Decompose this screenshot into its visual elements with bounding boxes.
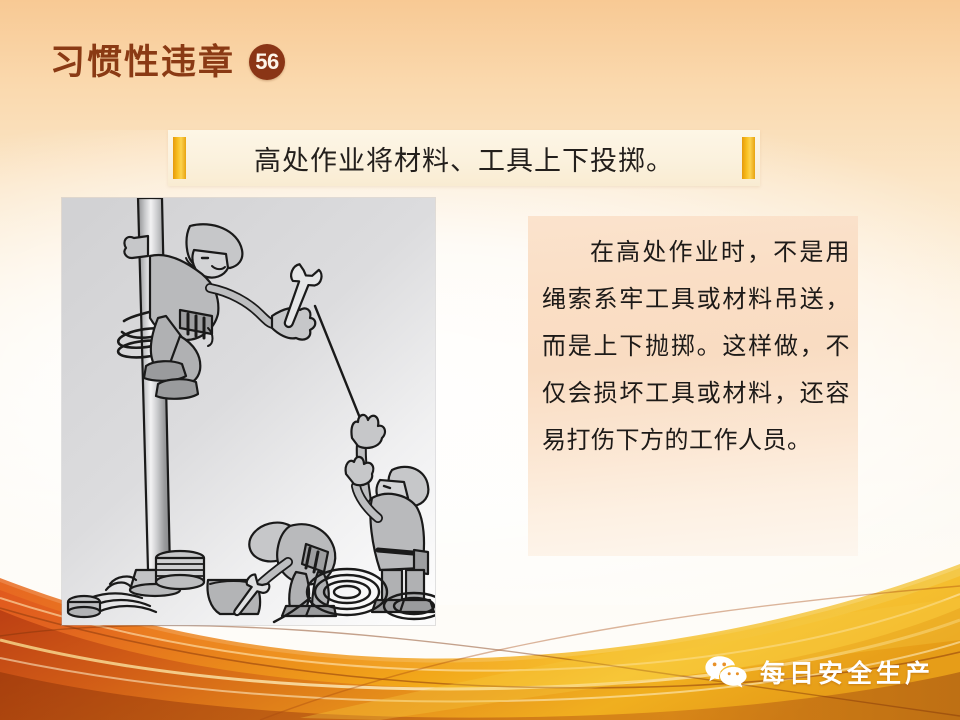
page-title: 习惯性违章 [50,45,235,80]
footer-brand: 每日安全生产 [704,654,934,690]
header: 习惯性违章 56 [50,44,285,80]
illustration-panel [62,198,435,625]
description-text: 在高处作业时，不是用绳索系牢工具或材料吊送，而是上下抛掷。这样做，不仅会损坏工具… [542,230,850,465]
footer-brand-label: 每日安全生产 [760,654,934,690]
pole-worker-throwing-wrench-icon [62,198,435,625]
slide: 习惯性违章 56 高处作业将材料、工具上下投掷。 [0,0,960,720]
description-panel: 在高处作业时，不是用绳索系牢工具或材料吊送，而是上下抛掷。这样做，不仅会损坏工具… [528,216,858,556]
subtitle-text: 高处作业将材料、工具上下投掷。 [186,139,742,178]
wechat-icon [704,655,748,689]
subtitle-banner: 高处作业将材料、工具上下投掷。 [168,130,760,186]
slide-number-badge: 56 [249,44,285,80]
banner-accent-bar-left [173,137,186,179]
banner-accent-bar-right [742,137,755,179]
